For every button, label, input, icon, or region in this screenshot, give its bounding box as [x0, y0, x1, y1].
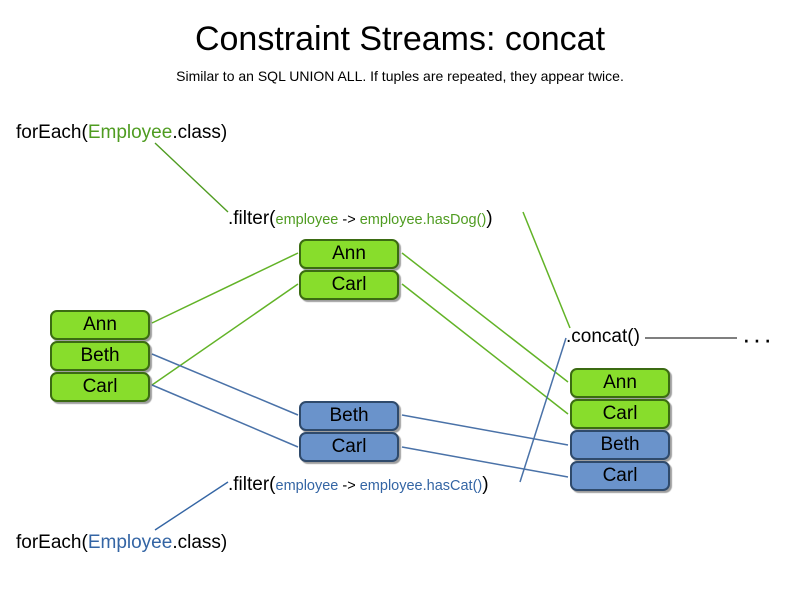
wire-catcarl-to-resultcarl: [402, 447, 568, 477]
leader-foreach-top: [155, 143, 228, 212]
foreach-top-type: Employee: [88, 122, 173, 143]
list-item[interactable]: Beth: [50, 341, 150, 371]
leader-filter-bottom-to-concat: [520, 338, 566, 482]
wire-dogann-to-resultann: [402, 253, 568, 382]
filter-bottom-lambda-param: employee: [276, 478, 339, 494]
ellipsis-label: ···: [742, 326, 774, 352]
filter-top-prefix: .filter(: [228, 208, 276, 229]
list-item[interactable]: Ann: [570, 368, 670, 398]
foreach-bottom-label: forEach(Employee.class): [16, 532, 227, 554]
filter-top-arrow: ->: [338, 212, 359, 228]
connector-lines: [0, 0, 800, 600]
foreach-top-suffix: .class): [172, 122, 227, 143]
foreach-bottom-prefix: forEach(: [16, 532, 88, 553]
filter-bottom-arrow: ->: [338, 478, 359, 494]
filter-top-lambda-body: employee.hasDog(): [360, 212, 487, 228]
list-item[interactable]: Carl: [299, 432, 399, 462]
wire-carl-to-dogcarl: [152, 284, 298, 385]
page-title: Constraint Streams: concat: [0, 20, 800, 59]
wire-beth-to-catbeth: [152, 354, 298, 415]
foreach-top-label: forEach(Employee.class): [16, 122, 227, 144]
foreach-bottom-type: Employee: [88, 532, 173, 553]
filter-top-suffix: ): [486, 208, 492, 229]
foreach-bottom-suffix: .class): [172, 532, 227, 553]
list-item[interactable]: Carl: [570, 461, 670, 491]
list-item[interactable]: Ann: [50, 310, 150, 340]
list-item[interactable]: Carl: [299, 270, 399, 300]
foreach-top-prefix: forEach(: [16, 122, 88, 143]
list-item[interactable]: Beth: [570, 430, 670, 460]
filter-top-lambda-param: employee: [276, 212, 339, 228]
list-item[interactable]: Beth: [299, 401, 399, 431]
wire-carl-to-catcarl: [152, 385, 298, 447]
list-item[interactable]: Ann: [299, 239, 399, 269]
wire-catbeth-to-resultbeth: [402, 415, 568, 445]
filter-top-label: .filter(employee -> employee.hasDog()): [228, 208, 493, 230]
diagram-canvas: Constraint Streams: concat Similar to an…: [0, 0, 800, 600]
wire-ann-to-dogann: [152, 253, 298, 323]
filter-bottom-label: .filter(employee -> employee.hasCat()): [228, 474, 489, 496]
filter-bottom-prefix: .filter(: [228, 474, 276, 495]
concat-label: .concat(): [566, 326, 640, 348]
wire-dogcarl-to-resultcarl: [402, 284, 568, 414]
leader-filter-top-to-concat: [523, 212, 570, 328]
leader-foreach-bottom: [155, 482, 228, 530]
filter-bottom-lambda-body: employee.hasCat(): [360, 478, 483, 494]
filter-bottom-suffix: ): [482, 474, 488, 495]
list-item[interactable]: Carl: [50, 372, 150, 402]
page-subtitle: Similar to an SQL UNION ALL. If tuples a…: [0, 68, 800, 84]
list-item[interactable]: Carl: [570, 399, 670, 429]
